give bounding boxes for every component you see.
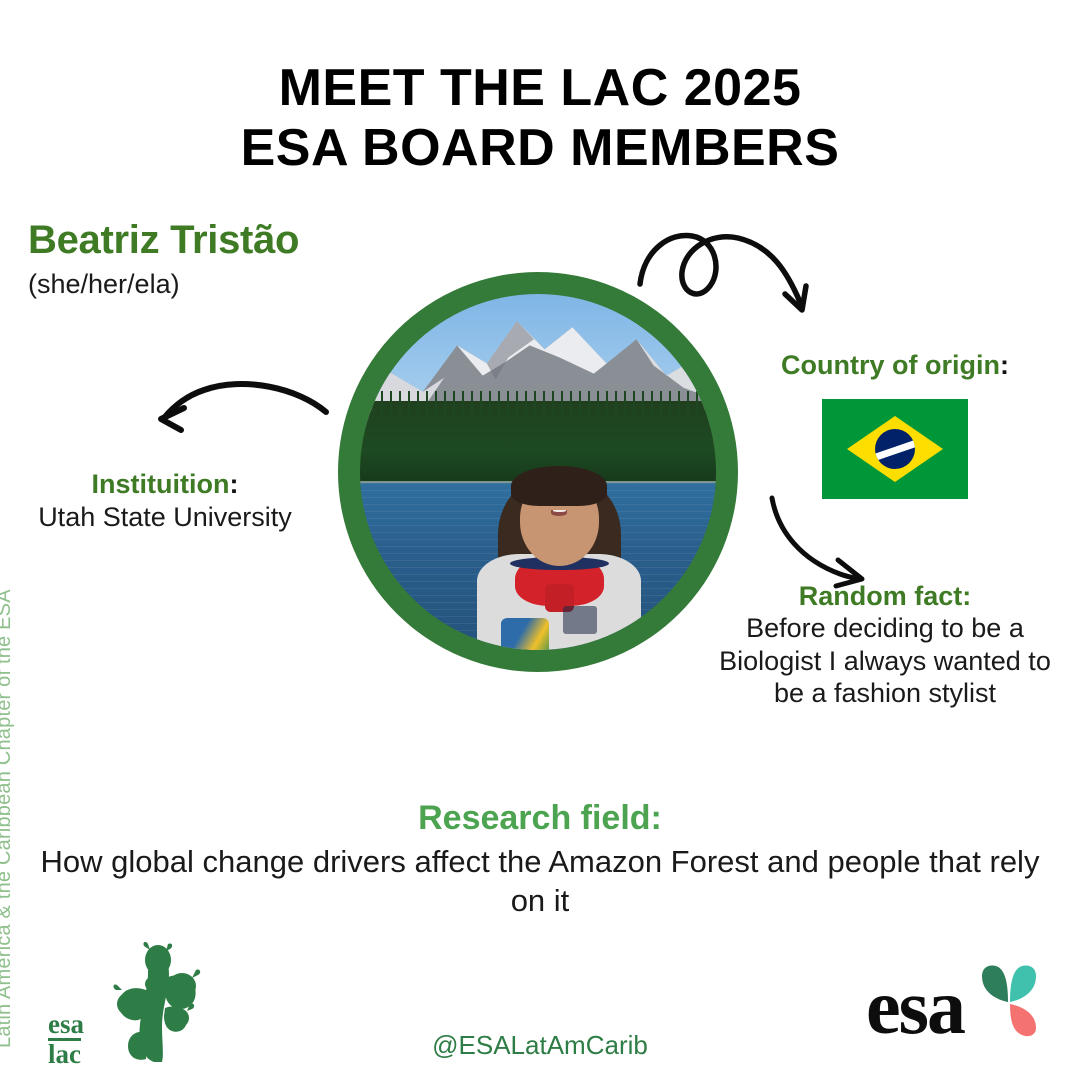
photo-person-smile	[551, 510, 567, 516]
random-fact-block: Random fact: Before deciding to be a Bio…	[715, 580, 1055, 710]
flag-band	[875, 439, 915, 461]
research-field-block: Research field: How global change driver…	[40, 798, 1040, 920]
institution-label-row: Instituition:	[0, 468, 330, 501]
page-title-line-1: MEET THE LAC 2025	[0, 58, 1080, 118]
random-fact-value: Before deciding to be a Biologist I alwa…	[715, 612, 1055, 709]
photo-person-hair-top	[511, 466, 607, 506]
arrow-to-country-of-origin-icon	[630, 222, 840, 352]
sidebar-chapter-text: Latin America & the Caribbean Chapter of…	[0, 589, 16, 1048]
institution-label: Instituition	[92, 469, 230, 499]
country-block: Country of origin:	[735, 350, 1055, 499]
photo-person-bag	[501, 618, 549, 650]
esa-petals-icon	[974, 962, 1044, 1038]
social-handle: @ESALatAmCarib	[0, 1030, 1080, 1061]
country-label-row: Country of origin:	[735, 350, 1055, 381]
poster-canvas: MEET THE LAC 2025 ESA BOARD MEMBERS Beat…	[0, 0, 1080, 1080]
institution-value: Utah State University	[0, 501, 330, 534]
brazil-flag-icon	[822, 399, 968, 499]
country-colon: :	[1000, 350, 1009, 380]
arrow-to-institution-icon	[148, 368, 333, 463]
institution-colon: :	[229, 469, 238, 499]
research-field-label: Research field:	[40, 798, 1040, 839]
person-name-block: Beatriz Tristão (she/her/ela)	[28, 218, 448, 300]
institution-block: Instituition: Utah State University	[0, 468, 330, 534]
country-label: Country of origin	[781, 350, 1000, 380]
page-title: MEET THE LAC 2025 ESA BOARD MEMBERS	[0, 58, 1080, 179]
person-name: Beatriz Tristão	[28, 218, 448, 262]
random-fact-label: Random fact:	[715, 580, 1055, 612]
research-field-value: How global change drivers affect the Ama…	[40, 843, 1040, 921]
photo-person	[474, 454, 645, 650]
page-title-line-2: ESA BOARD MEMBERS	[0, 118, 1080, 178]
flag-globe	[875, 429, 915, 469]
photo-sweatshirt-logo	[563, 606, 597, 634]
